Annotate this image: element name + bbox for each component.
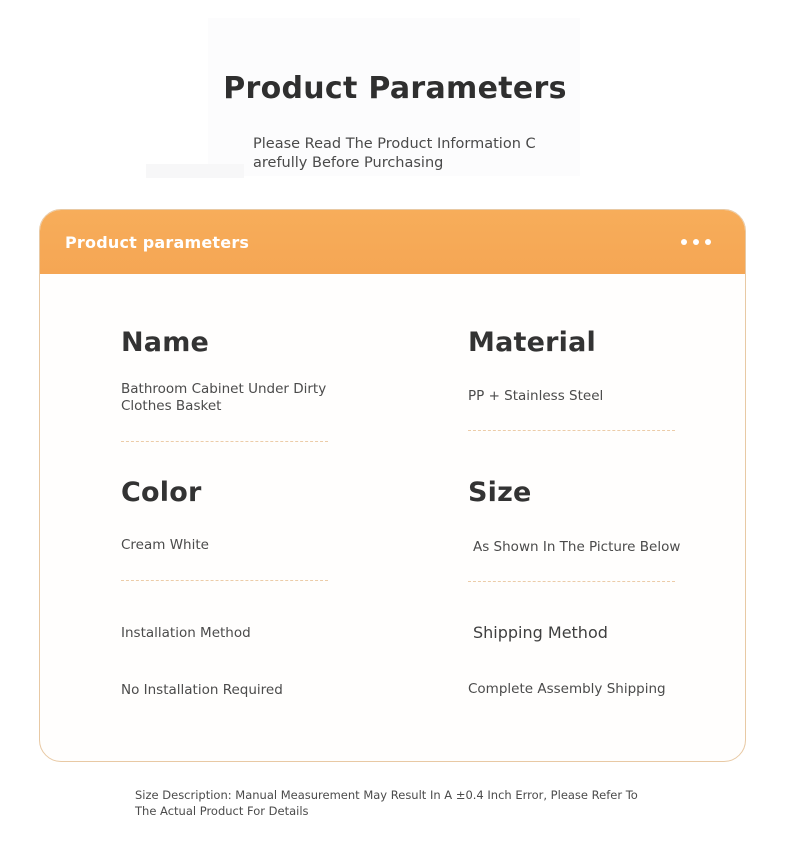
param-value: Complete Assembly Shipping <box>468 681 746 698</box>
ellipsis-dot <box>693 239 699 245</box>
product-parameters-page: Product Parameters Please Read The Produ… <box>0 0 790 848</box>
param-value: Bathroom Cabinet Under Dirty Clothes Bas… <box>121 381 337 416</box>
param-divider <box>468 581 675 582</box>
page-title: Product Parameters <box>0 72 790 105</box>
ellipsis-dot <box>705 239 711 245</box>
param-value: Cream White <box>121 537 411 554</box>
size-description-note: Size Description: Manual Measurement May… <box>135 787 655 820</box>
ellipsis-dot <box>681 239 687 245</box>
param-cell-size: Size As Shown In The Picture Below <box>468 478 746 582</box>
card-body: Name Bathroom Cabinet Under Dirty Clothe… <box>40 274 745 762</box>
param-cell-material: Material PP + Stainless Steel <box>468 328 746 431</box>
ellipsis-icon[interactable] <box>681 239 711 245</box>
param-divider <box>468 430 675 431</box>
param-cell-installation: Installation Method No Installation Requ… <box>121 625 411 699</box>
param-heading: Name <box>121 328 411 358</box>
param-value: PP + Stainless Steel <box>468 388 746 405</box>
param-heading: Size <box>468 478 746 508</box>
param-cell-shipping: Shipping Method Complete Assembly Shippi… <box>468 625 746 698</box>
param-value: No Installation Required <box>121 682 411 699</box>
param-divider <box>121 580 328 581</box>
param-value: As Shown In The Picture Below <box>473 539 746 556</box>
page-subtitle: Please Read The Product Information Care… <box>247 135 543 173</box>
page-header: Product Parameters Please Read The Produ… <box>0 0 790 173</box>
param-heading: Material <box>468 328 746 358</box>
param-cell-name: Name Bathroom Cabinet Under Dirty Clothe… <box>121 328 411 442</box>
card-header-bar: Product parameters <box>40 210 745 274</box>
param-cell-color: Color Cream White <box>121 478 411 581</box>
param-divider <box>121 441 328 442</box>
card-title: Product parameters <box>65 233 249 252</box>
param-heading: Color <box>121 478 411 508</box>
parameters-card: Product parameters Name Bathroom Cabinet… <box>39 209 746 762</box>
param-label: Shipping Method <box>473 623 746 642</box>
param-label: Installation Method <box>121 625 411 641</box>
